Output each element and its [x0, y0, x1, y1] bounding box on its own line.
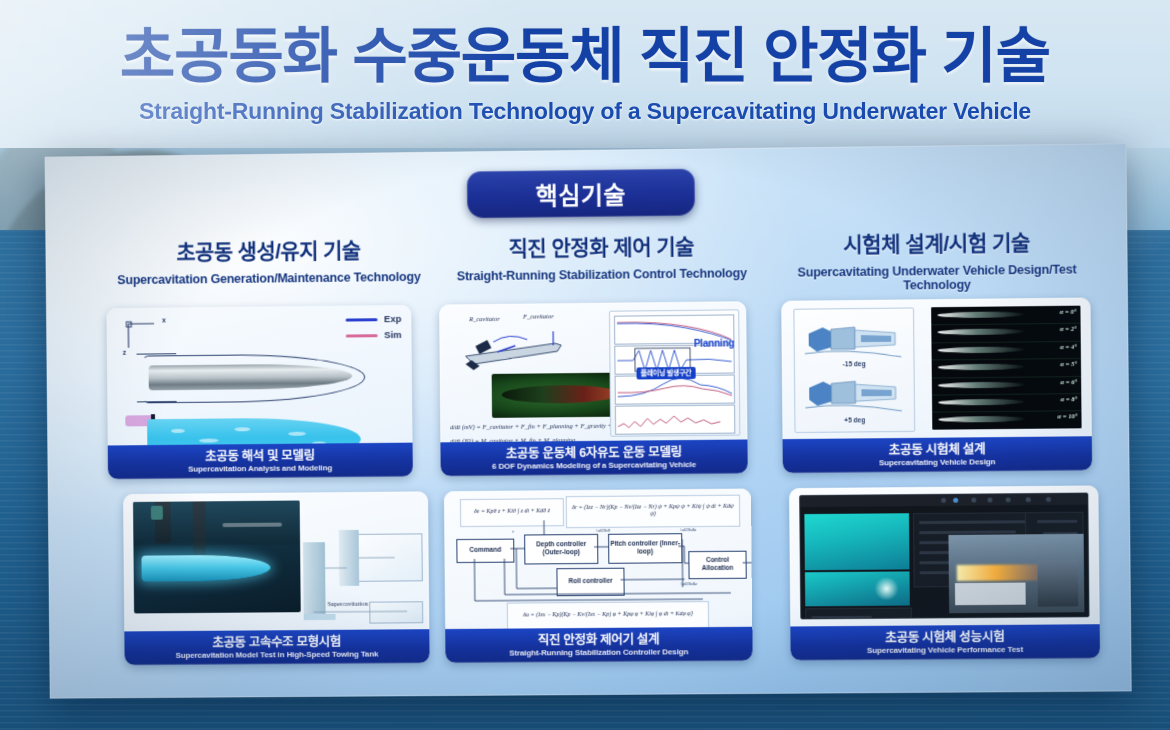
panel-caption: 초공동 시험체 성능시험 Supercavitating Vehicle Per…: [790, 624, 1100, 660]
supercavity-glow: [141, 555, 270, 582]
angle-label: α = 2°: [1060, 326, 1077, 333]
panel-performance-test[interactable]: 초공동 시험체 성능시험 Supercavitating Vehicle Per…: [789, 485, 1100, 660]
angle-label: α = 10°: [1058, 414, 1078, 421]
legend-swatch-exp: [345, 318, 377, 321]
panel-towing-tank-test[interactable]: Supercavitation 초공동 고속수조 모형시험 Supercavit…: [123, 491, 430, 665]
panel-figure: δe = Kpθ z + Kiθ ∫ z dt + Kdθ ż δr = (Iz…: [444, 489, 752, 630]
angle-label: α = 4°: [1060, 344, 1077, 351]
panel-figure: Supercavitation: [123, 491, 429, 631]
column-header-design-test: 시험체 설계/시험 기술 Supercavitating Underwater …: [770, 226, 1103, 294]
core-technology-badge: 핵심기술: [467, 169, 695, 219]
caption-en: Supercavitating Vehicle Performance Test: [867, 645, 1023, 655]
axis-label-x: x: [162, 318, 166, 325]
block-diagram: δe = Kpθ z + Kiθ ∫ z dt + Kdθ ż δr = (Iz…: [444, 489, 752, 630]
strip-row: α = 10°: [932, 411, 1081, 430]
panel-analysis-modeling[interactable]: x z Exp Sim: [106, 305, 412, 479]
panel-figure: -15 deg +5 deg α = 0° α = 2° α = 4° α = …: [781, 297, 1092, 439]
panel-caption: 초공동 해석 및 모델링 Supercavitation Analysis an…: [108, 443, 413, 480]
svg-text:\u03b8: \u03b8: [596, 529, 610, 534]
content-board: 핵심기술 초공동 생성/유지 기술 Supercavitation Genera…: [45, 143, 1132, 698]
column-title-en: Supercavitating Underwater Vehicle Desig…: [771, 262, 1104, 294]
panel-caption: 초공동 운동체 6자유도 운동 모델링 6 DOF Dynamics Model…: [440, 439, 747, 476]
legend-swatch-sim: [345, 334, 377, 337]
schematic-lines: [295, 527, 423, 624]
caption-en: Supercavitation Analysis and Modeling: [188, 464, 332, 474]
legend-item-exp: Exp: [345, 314, 401, 326]
cad-model-top-icon: [802, 317, 903, 362]
column-header-control: 직진 안정화 제어 기술 Straight-Running Stabilizat…: [436, 230, 767, 284]
cavity-profile-figure: x z Exp Sim: [106, 305, 412, 446]
legend-item-sim: Sim: [345, 330, 401, 342]
legend: Exp Sim: [345, 314, 401, 347]
caption-ko: 초공동 시험체 성능시험: [885, 630, 1004, 645]
cavity-bubble-field: [147, 417, 361, 445]
caption-ko: 직진 안정화 제어기 설계: [538, 632, 660, 647]
column-title-ko: 시험체 설계/시험 기술: [770, 226, 1103, 260]
svg-text:z: z: [511, 530, 514, 535]
legend-label-exp: Exp: [384, 314, 401, 325]
poster-header: 초공동화 수중운동체 직진 안정화 기술 Straight-Running St…: [0, 0, 1170, 148]
panel-vehicle-design[interactable]: -15 deg +5 deg α = 0° α = 2° α = 4° α = …: [781, 297, 1092, 473]
column-title-ko: 직진 안정화 제어 기술: [436, 230, 766, 264]
panel-controller-design[interactable]: δe = Kpθ z + Kiθ ∫ z dt + Kdθ ż δr = (Iz…: [444, 489, 753, 663]
panel-figure: x z Exp Sim: [106, 305, 412, 446]
caption-en: Straight-Running Stabilization Controlle…: [509, 647, 688, 657]
cad-label-2: +5 deg: [795, 417, 914, 425]
diagram-wires: z \u03b8 \u03b4e \u03b4a: [444, 489, 752, 630]
column-header-generation: 초공동 생성/유지 기술 Supercavitation Generation/…: [105, 234, 433, 288]
page-title-en: Straight-Running Stabilization Technolog…: [0, 98, 1170, 125]
caption-en: Supercavitating Vehicle Design: [879, 457, 996, 467]
angle-label: α = 0°: [1060, 309, 1077, 316]
force-label-r: R_cavitator: [469, 316, 500, 323]
angle-label: α = 6°: [1061, 379, 1078, 386]
live-camera-feed: [804, 513, 909, 570]
annotation-planning-ko: 플레이닝 발생구간: [636, 367, 695, 380]
six-dof-figure: R_cavitator F_cavitator d/dt (mV) = F_ca…: [439, 301, 747, 442]
panel-caption: 초공동 시험체 설계 Supercavitating Vehicle Desig…: [783, 436, 1093, 473]
panel-caption: 직진 안정화 제어기 설계 Straight-Running Stabiliza…: [445, 627, 752, 663]
test-console-screenshot: [799, 493, 1089, 620]
poster-photo: 초공동화 수중운동체 직진 안정화 기술 Straight-Running St…: [0, 0, 1170, 730]
svg-text:\u03b4a: \u03b4a: [681, 582, 698, 587]
cad-render-box: -15 deg +5 deg: [793, 307, 915, 433]
annotation-planning: Planning: [694, 338, 735, 349]
column-title-ko: 초공동 생성/유지 기술: [105, 234, 433, 268]
towing-tank-photo: [133, 501, 301, 614]
panel-figure: R_cavitator F_cavitator d/dt (mV) = F_ca…: [439, 301, 747, 442]
secondary-camera-feed: [805, 571, 910, 606]
equation-translational: d/dt (mV) = F_cavitator + F_fin + F_plan…: [450, 423, 636, 432]
caption-ko: 초공동 해석 및 모델링: [205, 448, 315, 463]
cavitation-photo-strip: α = 0° α = 2° α = 4° α = 5° α = 6° α = 8…: [931, 306, 1081, 430]
angle-label: α = 8°: [1061, 396, 1078, 403]
tank-schematic: Supercavitation: [295, 527, 423, 624]
caption-en: 6 DOF Dynamics Modeling of a Supercavita…: [492, 460, 696, 471]
caption-ko: 초공동 고속수조 모형시험: [212, 635, 341, 650]
cad-label-1: -15 deg: [795, 361, 914, 369]
launch-video-feed: [948, 534, 1084, 613]
subplot-angle: [615, 405, 735, 435]
force-label-f: F_cavitator: [523, 313, 554, 320]
vehicle-force-diagram-icon: [457, 325, 567, 372]
caption-ko: 초공동 시험체 설계: [889, 442, 986, 457]
axis-indicator-icon: [124, 320, 160, 352]
caption-en: Supercavitation Model Test in High-Speed…: [175, 650, 378, 660]
panel-figure: [789, 485, 1100, 626]
cad-model-bottom-icon: [803, 371, 904, 416]
column-title-en: Supercavitation Generation/Maintenance T…: [105, 270, 433, 288]
svg-text:\u03b4e: \u03b4e: [680, 528, 697, 533]
panel-six-dof-modeling[interactable]: R_cavitator F_cavitator d/dt (mV) = F_ca…: [439, 301, 748, 476]
response-plots: Planning 플레이닝 발생구간: [609, 309, 740, 436]
caption-ko: 초공동 운동체 6자유도 운동 모델링: [506, 445, 682, 461]
page-title-ko: 초공동화 수중운동체 직진 안정화 기술: [0, 8, 1170, 95]
axis-label-z: z: [123, 350, 127, 357]
angle-label: α = 5°: [1060, 361, 1077, 368]
panel-caption: 초공동 고속수조 모형시험 Supercavitation Model Test…: [124, 629, 429, 665]
legend-label-sim: Sim: [384, 330, 401, 341]
column-title-en: Straight-Running Stabilization Control T…: [437, 266, 767, 284]
